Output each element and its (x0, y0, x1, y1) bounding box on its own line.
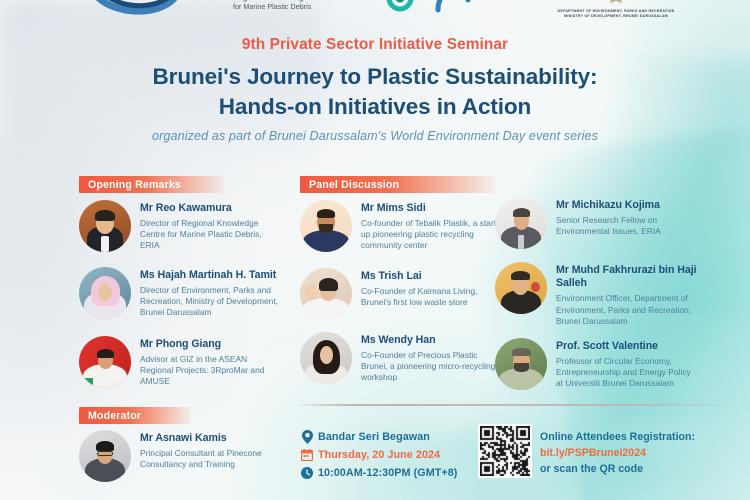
seminar-poster: Regional Knowledge Centre for Marine Pla… (0, 0, 750, 500)
title-line-1: Brunei's Journey to Plastic Sustainabili… (0, 62, 750, 92)
event-date: Thursday, 20 June 2024 (314, 449, 440, 461)
section-header-moderator-label: Moderator (88, 410, 141, 422)
panelist-card: Mr Michikazu Kojima Senior Research Fell… (495, 197, 695, 249)
seminar-kicker: 9th Private Sector Initiative Seminar (0, 36, 750, 54)
rkc-logo-text: Regional Knowledge Centre for Marine Pla… (233, 0, 383, 11)
panelist-name: Ms Wendy Han (361, 334, 502, 347)
registration-note: or scan the QR code (540, 462, 745, 478)
speaker-role: Advisor at GIZ in the ASEAN Regional Pro… (140, 354, 277, 388)
panelist-card: Mr Muhd Fakhrurazi bin Haji Salleh Envir… (495, 262, 697, 327)
partner-logo-blue-icon (430, 0, 476, 16)
panelist-name: Prof. Scott Valentine (556, 340, 697, 353)
qr-code[interactable] (478, 424, 532, 478)
panelist-name: Ms Trish Lai (361, 270, 504, 283)
event-location: Bandar Seri Begawan (314, 431, 430, 443)
section-header-panel-discussion-label: Panel Discussion (309, 179, 399, 191)
registration-heading: Online Attendees Registration: (540, 430, 745, 446)
avatar (300, 268, 352, 320)
partner-logo-teal-icon (378, 0, 422, 16)
panelist-card: Ms Wendy Han Co-Founder of Precious Plas… (300, 332, 502, 384)
event-date-row: Thursday, 20 June 2024 (300, 446, 490, 464)
speaker-name: Mr Reo Kawamura (140, 202, 277, 215)
panelist-name: Mr Muhd Fakhrurazi bin Haji Salleh (556, 264, 697, 291)
avatar (79, 430, 131, 482)
event-time-row: 10:00AM-12:30PM (GMT+8) (300, 464, 490, 482)
avatar (495, 197, 547, 249)
section-header-opening-remarks-label: Opening Remarks (88, 179, 181, 191)
speaker-role: Director of Environment, Parks and Recre… (140, 285, 281, 319)
speaker-card: Mr Phong Giang Advisor at GIZ in the ASE… (79, 336, 277, 388)
panelist-card: Prof. Scott Valentine Professor of Circu… (495, 338, 697, 390)
page-subtitle: organized as part of Brunei Darussalam's… (0, 129, 750, 143)
brunei-crest-icon (603, 0, 629, 4)
event-details: Bandar Seri Begawan Thursday, 20 June 20… (300, 428, 490, 482)
avatar (495, 262, 547, 314)
qr-code-canvas[interactable] (480, 426, 530, 476)
avatar (79, 200, 131, 252)
title-line-2: Hands-on Initiatives in Action (0, 92, 750, 122)
section-header-panel-discussion: Panel Discussion (300, 176, 496, 193)
avatar (300, 200, 352, 252)
clock-icon (300, 467, 314, 479)
speaker-card: Mr Reo Kawamura Director of Regional Kno… (79, 200, 277, 252)
section-header-opening-remarks: Opening Remarks (79, 176, 224, 193)
section-header-moderator: Moderator (79, 407, 191, 424)
event-time: 10:00AM-12:30PM (GMT+8) (314, 467, 457, 479)
panelist-role: Co-Founder of Precious Plastic Brunei, a… (361, 350, 502, 384)
logo-bar: Regional Knowledge Centre for Marine Pla… (0, 0, 750, 30)
panelist-name: Mr Michikazu Kojima (556, 199, 695, 212)
registration-info: Online Attendees Registration: bit.ly/PS… (540, 430, 745, 478)
panelist-role: Senior Research Fellow on Environmental … (556, 215, 695, 238)
avatar (79, 267, 131, 319)
location-pin-icon (300, 430, 314, 444)
moderator-card: Mr Asnawi Kamis Principal Consultant at … (79, 430, 291, 482)
page-title: Brunei's Journey to Plastic Sustainabili… (0, 62, 750, 122)
registration-link[interactable]: bit.ly/PSPBrunei2024 (540, 446, 745, 462)
moderator-role: Principal Consultant at Pinecone Consult… (140, 448, 291, 471)
calendar-icon (300, 449, 314, 461)
speaker-role: Director of Regional Knowledge Centre fo… (140, 218, 277, 252)
rkc-logo-line-2: for Marine Plastic Debris (233, 2, 383, 11)
government-line-2: MINISTRY OF DEVELOPMENT, BRUNEI DARUSSAL… (500, 14, 732, 19)
panelist-name: Mr Mims Sidi (361, 202, 504, 215)
government-logo: DEPARTMENT OF ENVIRONMENT, PARKS AND REC… (500, 0, 732, 20)
speaker-name: Mr Phong Giang (140, 338, 277, 351)
moderator-name: Mr Asnawi Kamis (140, 432, 291, 445)
panelist-card: Mr Mims Sidi Co-founder of Tebalik Plast… (300, 200, 504, 252)
divider (300, 404, 732, 406)
speaker-name: Ms Hajah Martinah H. Tamit (140, 269, 281, 282)
avatar (495, 338, 547, 390)
panelist-role: Professor of Circular Economy, Entrepren… (556, 356, 697, 390)
avatar (79, 336, 131, 388)
eria-logo-icon (88, 0, 180, 20)
speaker-card: Ms Hajah Martinah H. Tamit Director of E… (79, 267, 281, 319)
panelist-role: Co-Founder of Kaimana Living, Brunei's f… (361, 286, 504, 309)
panelist-card: Ms Trish Lai Co-Founder of Kaimana Livin… (300, 268, 504, 320)
panelist-role: Environment Officer, Department of Envir… (556, 293, 697, 327)
avatar (300, 332, 352, 384)
panelist-role: Co-founder of Tebalik Plastik, a start-u… (361, 218, 504, 252)
event-location-row: Bandar Seri Begawan (300, 428, 490, 446)
